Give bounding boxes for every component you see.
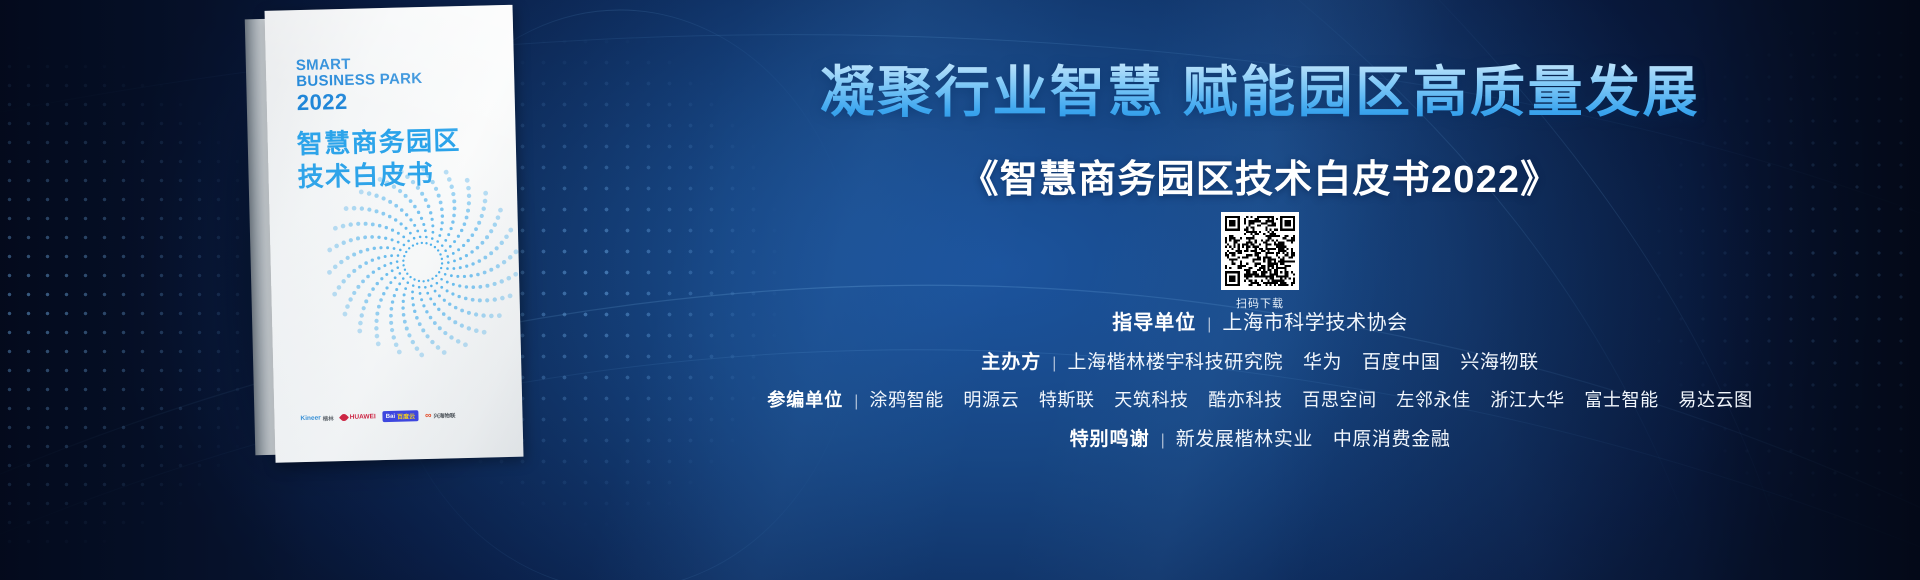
credit-value: 中原消费金融 bbox=[1333, 429, 1451, 450]
whitepaper-book-mockup: SMART BUSINESS PARK 2022 智慧商务园区 技术白皮书 Ki… bbox=[245, 5, 526, 461]
credit-row-special-thanks: 特别鸣谢 | 新发展楷林实业 中原消费金融 bbox=[600, 424, 1920, 451]
qr-code-icon[interactable] bbox=[1221, 212, 1299, 290]
banner-content: 凝聚行业智慧 赋能园区高质量发展 《智慧商务园区技术白皮书2022》 扫码下载 … bbox=[600, 0, 1920, 580]
credit-value: 新发展楷林实业 bbox=[1176, 429, 1313, 450]
credit-separator: | bbox=[1161, 432, 1165, 450]
cover-english-line-2: BUSINESS PARK bbox=[296, 71, 423, 90]
credit-label: 参编单位 bbox=[767, 386, 843, 412]
credit-value: 上海楷林楼宇科技研究院 bbox=[1067, 352, 1283, 373]
kineer-logo: Kineer 楷林 bbox=[300, 414, 333, 423]
infinity-icon: ∞ bbox=[425, 411, 432, 420]
cover-partner-logos: Kineer 楷林 HUAWEI Bai百度云 ∞ 兴海物联 bbox=[300, 409, 455, 424]
credit-row-guidance: 指导单位 | 上海市科学技术协会 bbox=[600, 306, 1920, 335]
credit-value: 百思空间 bbox=[1302, 390, 1376, 410]
credit-label: 主办方 bbox=[981, 347, 1041, 374]
credit-value: 上海市科学技术协会 bbox=[1222, 312, 1407, 334]
credit-value: 兴海物联 bbox=[1460, 352, 1538, 373]
credit-value: 酷亦科技 bbox=[1208, 390, 1282, 410]
cover-chinese-line-2: 技术白皮书 bbox=[297, 157, 462, 194]
credit-value: 富士智能 bbox=[1584, 390, 1658, 410]
credit-value: 左邻永佳 bbox=[1396, 390, 1470, 410]
credits-list: 指导单位 | 上海市科学技术协会 主办方 | 上海楷林楼宇科技研究院 华为 百度… bbox=[600, 306, 1920, 463]
credit-values: 新发展楷林实业 中原消费金融 bbox=[1176, 424, 1451, 451]
book-front-cover: SMART BUSINESS PARK 2022 智慧商务园区 技术白皮书 Ki… bbox=[265, 5, 524, 463]
page-title: 凝聚行业智慧 赋能园区高质量发展 bbox=[600, 62, 1920, 123]
qr-download-block[interactable]: 扫码下载 bbox=[1205, 212, 1315, 311]
credit-separator: | bbox=[1207, 316, 1211, 334]
xinghai-logo-cn: 兴海物联 bbox=[433, 411, 455, 420]
credit-value: 华为 bbox=[1303, 352, 1342, 373]
credit-value: 百度中国 bbox=[1362, 352, 1440, 373]
credit-value: 易达云图 bbox=[1678, 390, 1752, 410]
cover-chinese-title: 智慧商务园区 技术白皮书 bbox=[296, 124, 461, 195]
huawei-logo-latin: HUAWEI bbox=[350, 413, 376, 421]
kineer-logo-latin: Kineer bbox=[300, 415, 320, 422]
credit-row-contributors: 参编单位 | 涂鸦智能 明源云 特斯联 天筑科技 酷亦科技 百思空间 左邻永佳 … bbox=[600, 386, 1920, 412]
credit-label: 特别鸣谢 bbox=[1070, 424, 1150, 451]
cover-english-line-3: 2022 bbox=[297, 88, 424, 115]
credit-values: 上海市科学技术协会 bbox=[1222, 306, 1407, 335]
cover-english-title: SMART BUSINESS PARK 2022 bbox=[296, 55, 424, 115]
huawei-logo: HUAWEI bbox=[341, 413, 376, 421]
baidu-logo-cn: 百度云 bbox=[397, 411, 415, 420]
cover-chinese-line-1: 智慧商务园区 bbox=[296, 124, 461, 161]
baidu-logo-latin: Bai bbox=[386, 413, 395, 419]
credit-value: 特斯联 bbox=[1039, 390, 1095, 410]
baidu-cloud-logo: Bai百度云 bbox=[383, 410, 419, 422]
credit-value: 涂鸦智能 bbox=[869, 390, 943, 410]
huawei-petal-icon bbox=[339, 413, 349, 423]
credit-value: 明源云 bbox=[963, 390, 1019, 410]
credit-label: 指导单位 bbox=[1112, 306, 1196, 335]
credit-separator: | bbox=[1052, 355, 1056, 373]
promo-banner: SMART BUSINESS PARK 2022 智慧商务园区 技术白皮书 Ki… bbox=[0, 0, 1920, 580]
credit-value: 天筑科技 bbox=[1114, 390, 1188, 410]
credit-values: 上海楷林楼宇科技研究院 华为 百度中国 兴海物联 bbox=[1067, 347, 1538, 374]
credit-row-organizers: 主办方 | 上海楷林楼宇科技研究院 华为 百度中国 兴海物联 bbox=[600, 347, 1920, 374]
xinghai-iot-logo: ∞ 兴海物联 bbox=[425, 410, 456, 420]
page-subtitle: 《智慧商务园区技术白皮书2022》 bbox=[600, 148, 1920, 203]
credit-separator: | bbox=[854, 393, 858, 411]
credit-values: 涂鸦智能 明源云 特斯联 天筑科技 酷亦科技 百思空间 左邻永佳 浙江大华 富士… bbox=[869, 386, 1752, 412]
kineer-logo-cn: 楷林 bbox=[323, 414, 334, 422]
credit-value: 浙江大华 bbox=[1490, 390, 1564, 410]
